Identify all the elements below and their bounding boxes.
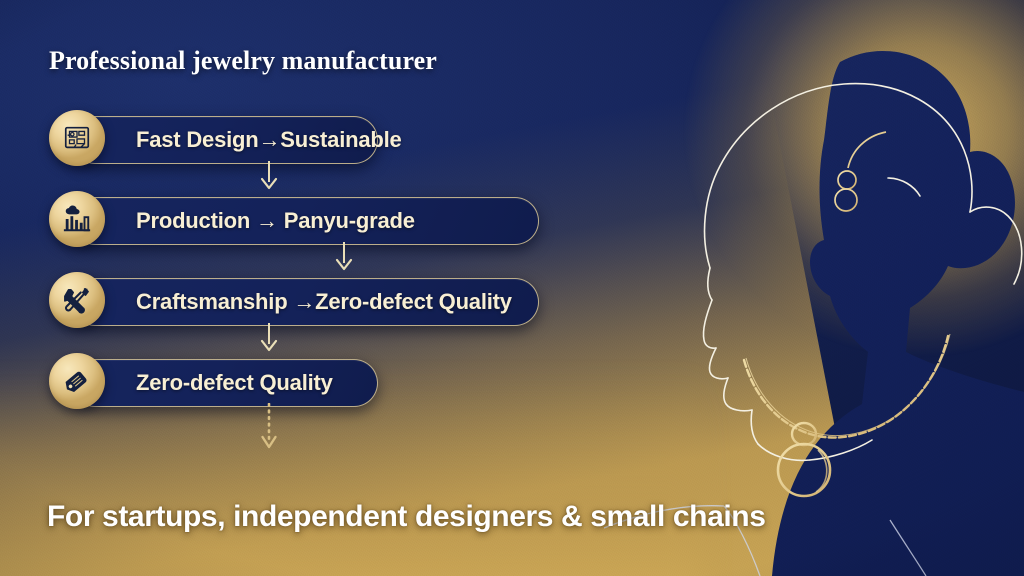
flow-pill-2[interactable]: Production → Panyu-grade	[71, 197, 539, 245]
flow-pill-4[interactable]: Zero-defect Quality	[71, 359, 378, 407]
tagline: For startups, independent designers & sm…	[47, 500, 766, 534]
flow-pill-1[interactable]: Fast Design→Sustainable	[71, 116, 378, 164]
connector-arrow-2	[324, 243, 364, 269]
page-title: Professional jewelry manufacturer	[49, 46, 437, 76]
flow-pill-label: Craftsmanship →Zero-defect Quality	[136, 289, 512, 315]
factory-icon	[49, 191, 105, 247]
process-flow: Fast Design→Sustainable Producti	[49, 110, 649, 423]
connector-arrow-4-dotted	[249, 405, 289, 451]
flow-step: Zero-defect Quality	[49, 353, 649, 423]
flow-step: Craftsmanship →Zero-defect Quality	[49, 272, 649, 342]
connector-arrow-1	[249, 162, 289, 188]
flow-step: Production → Panyu-grade	[49, 191, 649, 261]
flow-step: Fast Design→Sustainable	[49, 110, 649, 180]
flow-pill-label: Zero-defect Quality	[136, 370, 333, 396]
flow-pill-label: Production → Panyu-grade	[136, 208, 443, 234]
slide-canvas: Professional jewelry manufacturer Fast D…	[0, 0, 1024, 576]
price-tag-icon	[49, 353, 105, 409]
connector-arrow-3	[249, 324, 289, 350]
flow-pill-3[interactable]: Craftsmanship →Zero-defect Quality	[71, 278, 539, 326]
blueprint-icon	[49, 110, 105, 166]
tools-icon	[49, 272, 105, 328]
flow-pill-label: Fast Design→Sustainable	[136, 127, 402, 153]
